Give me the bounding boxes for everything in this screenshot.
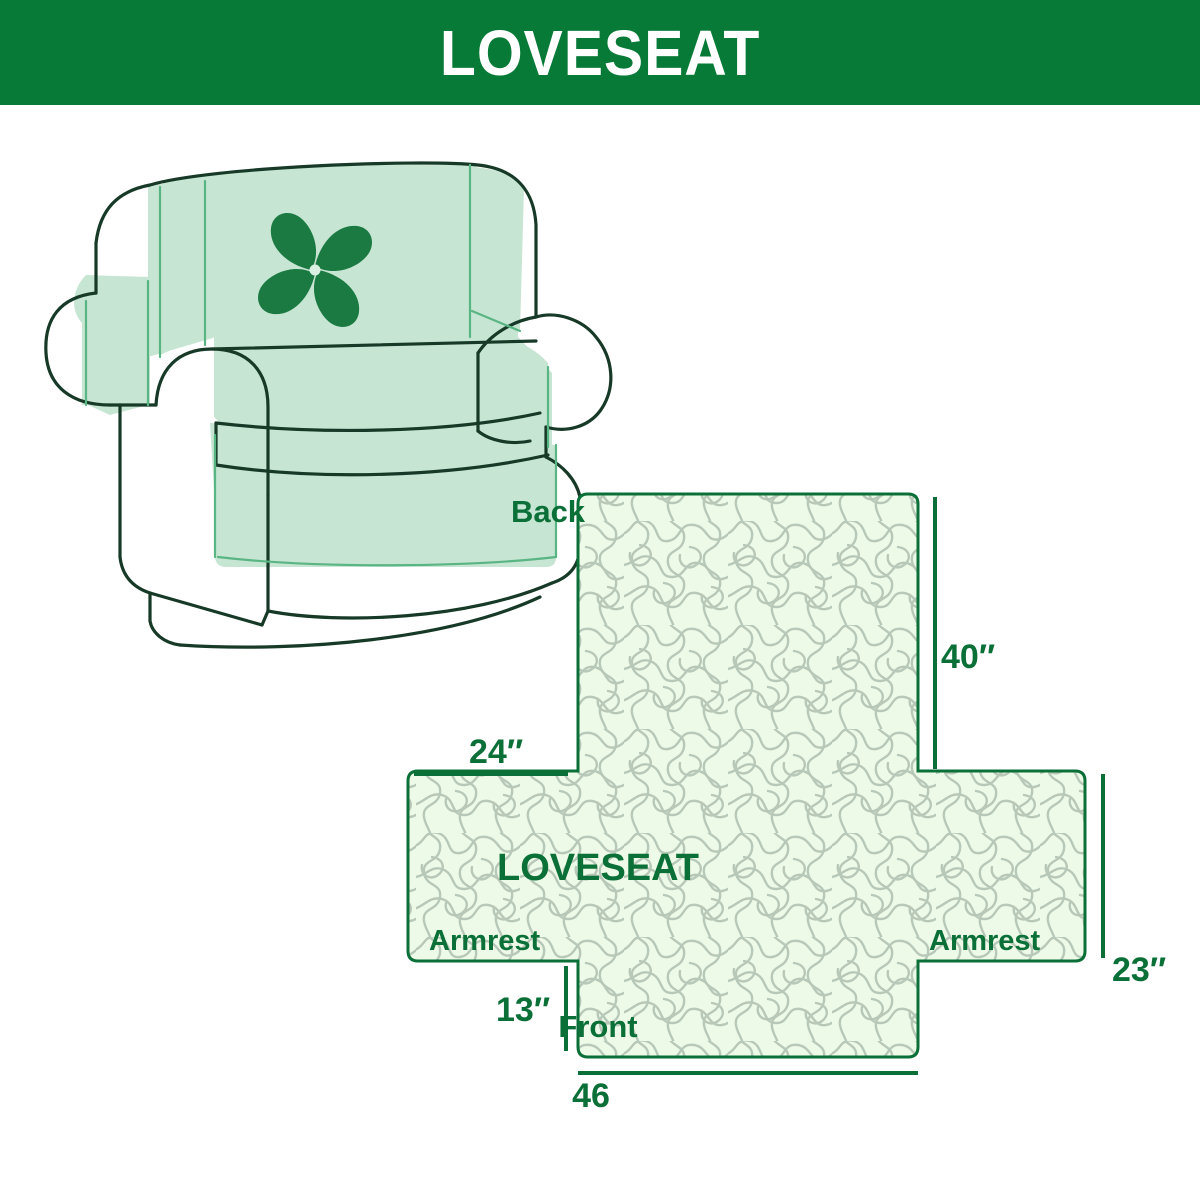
diagram-stage: Back LOVESEAT Armrest Armrest Front 40″ … bbox=[0, 105, 1200, 1200]
panel-label-armrest-right: Armrest bbox=[929, 927, 1040, 956]
dimension-back-height: 40″ bbox=[941, 640, 995, 674]
panel-label-armrest-left: Armrest bbox=[429, 927, 540, 956]
dimension-shoulder-width: 24″ bbox=[469, 735, 523, 769]
panel-label-center: LOVESEAT bbox=[0, 849, 1200, 887]
product-dimension-infographic: LOVESEAT bbox=[0, 0, 1200, 1200]
loveseat-illustration bbox=[46, 163, 611, 647]
panel-label-back: Back bbox=[0, 496, 1200, 527]
header-banner: LOVESEAT bbox=[0, 0, 1200, 105]
panel-label-front: Front bbox=[0, 1011, 1200, 1042]
page-title: LOVESEAT bbox=[440, 21, 760, 85]
dimension-front-width: 46 bbox=[0, 1079, 1200, 1113]
dimension-armrest-depth: 23″ bbox=[1112, 953, 1166, 987]
dimension-front-drop: 13″ bbox=[496, 993, 550, 1027]
